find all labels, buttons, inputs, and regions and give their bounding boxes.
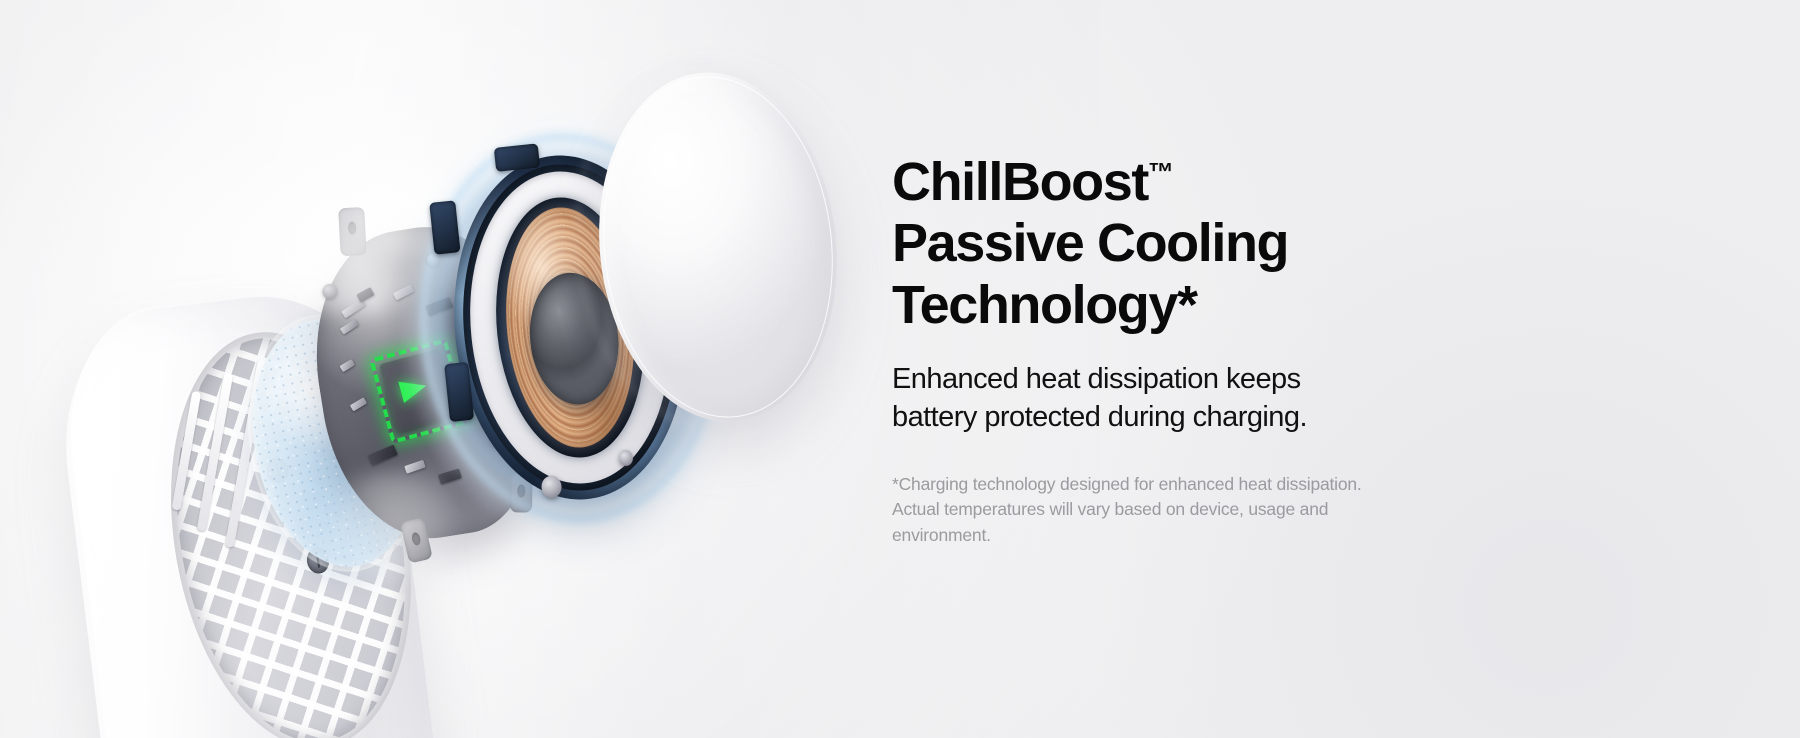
trademark-symbol: ™ bbox=[1148, 157, 1174, 187]
footnote-disclaimer: *Charging technology designed for enhanc… bbox=[892, 472, 1362, 548]
hero-banner: ChillBoost™Passive CoolingTechnology* En… bbox=[0, 0, 1800, 738]
pcb-mount-tab bbox=[338, 207, 366, 256]
copy-column: ChillBoost™Passive CoolingTechnology* En… bbox=[892, 0, 1452, 738]
coil-retaining-clip bbox=[494, 143, 540, 171]
subheading: Enhanced heat dissipation keepsbattery p… bbox=[892, 360, 1412, 437]
subheading-line-1: Enhanced heat dissipation keeps bbox=[892, 363, 1301, 395]
headline-line-3: Technology* bbox=[892, 275, 1197, 335]
headline-line-2: Passive Cooling bbox=[892, 213, 1288, 273]
headline-line-1: ChillBoost bbox=[892, 152, 1148, 212]
subheading-line-2: battery protected during charging. bbox=[892, 401, 1307, 433]
page-title: ChillBoost™Passive CoolingTechnology* bbox=[892, 152, 1452, 336]
coil-retaining-clip bbox=[429, 200, 460, 254]
product-exploded-view-image bbox=[0, 0, 900, 738]
